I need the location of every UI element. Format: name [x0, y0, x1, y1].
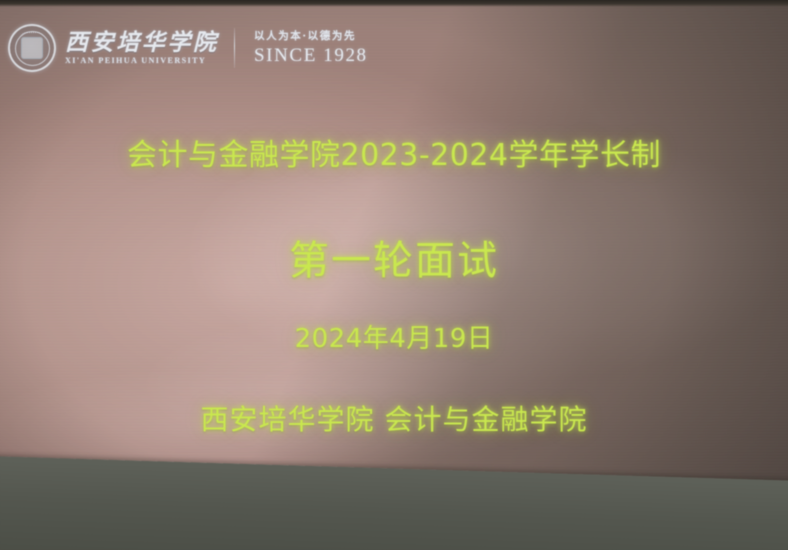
- university-seal-icon: [8, 24, 56, 72]
- university-wordmark: 西安培华学院 XI'AN PEIHUA UNIVERSITY: [65, 31, 219, 65]
- university-name-chinese: 西安培华学院: [65, 31, 219, 54]
- screen-bottom-band: [0, 455, 788, 550]
- university-name-english: XI'AN PEIHUA UNIVERSITY: [65, 57, 219, 65]
- university-logo-banner: 西安培华学院 XI'AN PEIHUA UNIVERSITY 以人为本·以德为先…: [8, 24, 368, 72]
- screen-top-edge: [0, 0, 788, 7]
- slide-heading: 会计与金融学院2023-2024学年学长制: [0, 130, 788, 174]
- motto-chinese: 以人为本·以德为先: [254, 31, 368, 42]
- projected-slide-photo: 西安培华学院 XI'AN PEIHUA UNIVERSITY 以人为本·以德为先…: [0, 0, 788, 550]
- university-motto-block: 以人为本·以德为先 SINCE 1928: [254, 31, 368, 65]
- logo-divider: [234, 28, 235, 68]
- motto-since-year: SINCE 1928: [254, 46, 368, 65]
- seal-center-mark: [21, 37, 43, 59]
- slide-date: 2024年4月19日: [0, 318, 788, 355]
- slide-subject-title: 第一轮面试: [0, 228, 788, 286]
- slide-organization: 西安培华学院 会计与金融学院: [0, 398, 788, 438]
